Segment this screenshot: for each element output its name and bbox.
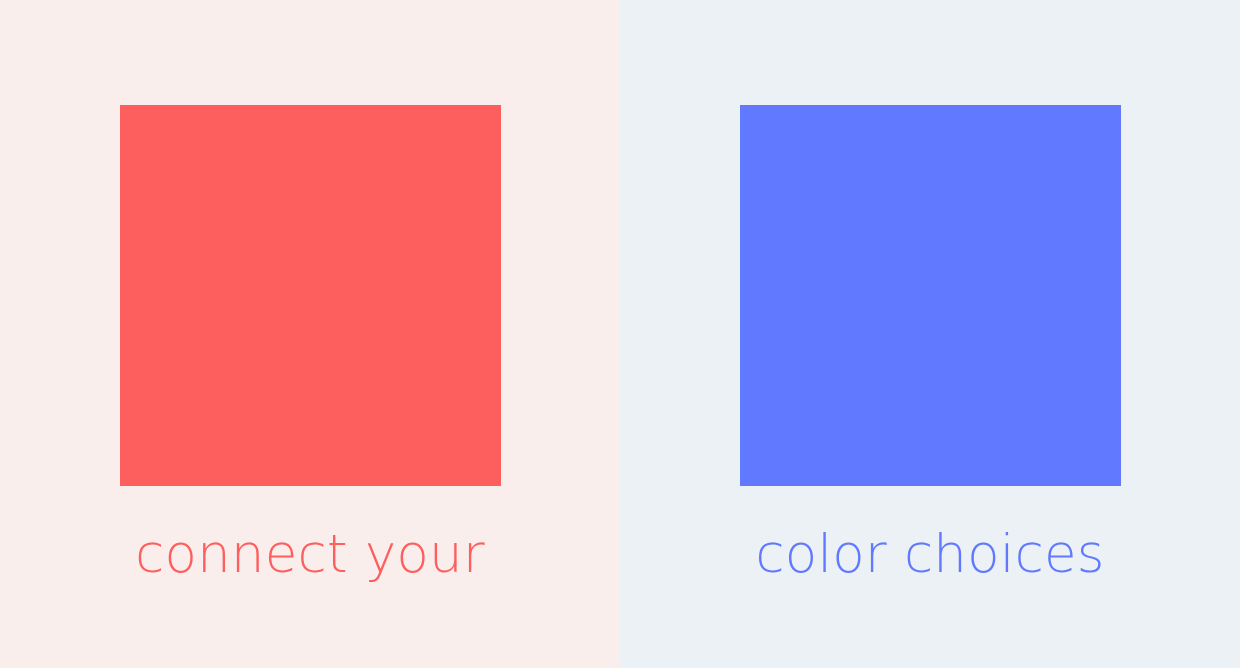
red-swatch-caption: connect your <box>0 519 620 591</box>
blue-swatch[interactable] <box>740 105 1121 486</box>
red-swatch[interactable] <box>120 105 501 486</box>
blue-swatch-caption: color choices <box>620 519 1240 591</box>
color-swatch-comparison: connect your color choices <box>0 0 1240 668</box>
swatch-panel-right: color choices <box>620 0 1240 668</box>
swatch-panel-left: connect your <box>0 0 620 668</box>
